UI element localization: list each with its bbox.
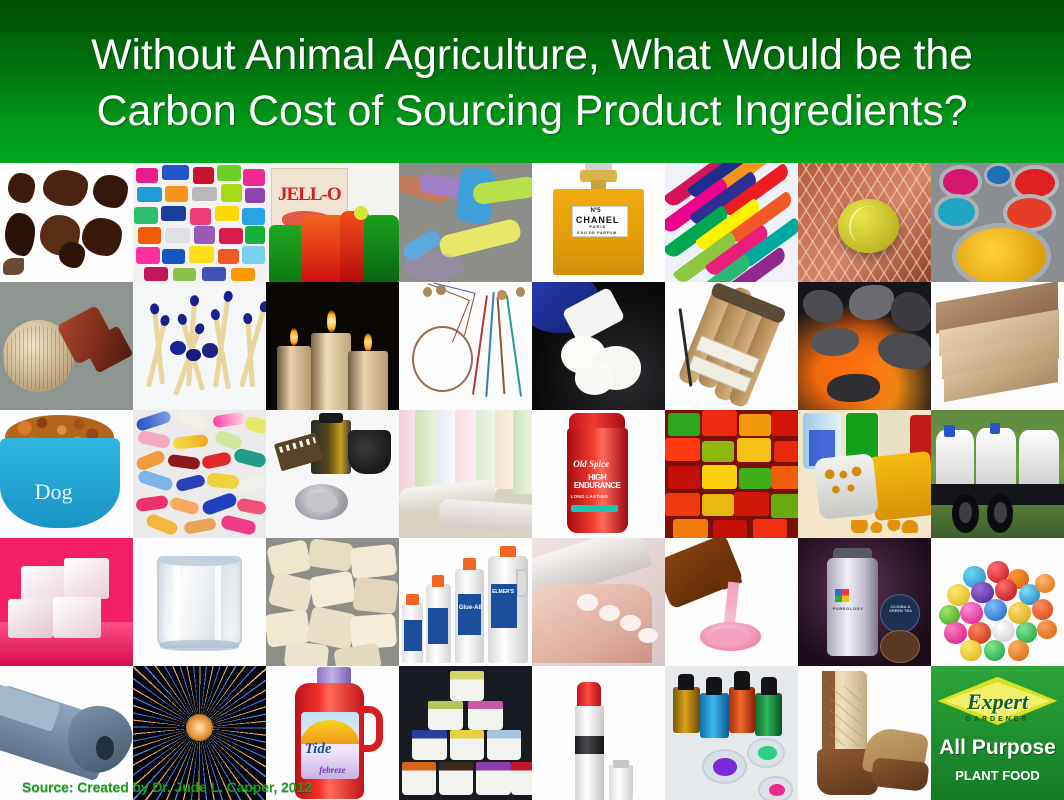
- grid-cell-plywood[interactable]: [931, 282, 1064, 410]
- grid-cell-gummy-candy[interactable]: [665, 410, 798, 538]
- product-image-grid: JELL-O: [0, 163, 1064, 800]
- plant-food-brand-sub3: PLANT FOOD: [931, 768, 1064, 783]
- grid-cell-nail-file[interactable]: [532, 538, 665, 666]
- deodorant-brand-sub2: LONG LASTING: [571, 494, 609, 499]
- grid-cell-paint-cans[interactable]: [931, 163, 1064, 282]
- grid-cell-pills[interactable]: [133, 410, 266, 538]
- grid-cell-spice-jars[interactable]: [798, 410, 931, 538]
- grid-cell-cowhide[interactable]: [0, 163, 133, 282]
- grid-cell-candles[interactable]: [266, 282, 399, 410]
- grid-cell-instrument-strings[interactable]: [399, 282, 532, 410]
- grid-cell-fertilizer-truck[interactable]: [931, 410, 1064, 538]
- grid-cell-wallpaper[interactable]: [399, 410, 532, 538]
- detergent-brand-sub: febreze: [319, 765, 346, 775]
- jello-brand-label: JELL-O: [278, 184, 341, 206]
- grid-cell-lipstick[interactable]: [532, 666, 665, 800]
- grid-cell-shaving-brush[interactable]: [0, 282, 133, 410]
- grid-cell-tallow[interactable]: [266, 538, 399, 666]
- grid-cell-gumballs[interactable]: [931, 538, 1064, 666]
- conditioner-brand-sub: JOJOBA & GREEN TEA: [883, 605, 918, 614]
- grid-cell-dog-food[interactable]: Dog: [0, 410, 133, 538]
- grid-cell-perfume[interactable]: N°5 CHANEL PARIS EAU DE PARFUM: [532, 163, 665, 282]
- grid-cell-photo-film[interactable]: [266, 410, 399, 538]
- plant-food-brand-sub: GARDENER: [931, 716, 1064, 723]
- plant-food-brand-sub2: All Purpose: [931, 736, 1064, 760]
- grid-cell-sidewalk-chalk[interactable]: [399, 163, 532, 282]
- grid-cell-tennis-ball[interactable]: [798, 163, 931, 282]
- source-note: Source: Created by Dr. Jude L. Capper, 2…: [22, 779, 312, 795]
- page-title-line-2: Carbon Cost of Sourcing Product Ingredie…: [17, 84, 1047, 139]
- conditioner-brand-label: PUREOLOGY: [833, 606, 864, 611]
- perfume-brand-type: EAU DE PARFUM: [577, 230, 617, 235]
- grid-cell-inks-dyes[interactable]: [665, 666, 798, 800]
- slide-header: Without Animal Agriculture, What Would b…: [0, 0, 1064, 163]
- slide: Without Animal Agriculture, What Would b…: [0, 0, 1064, 800]
- dog-bowl-label: Dog: [35, 479, 73, 505]
- perfume-brand-number: N°5: [591, 208, 601, 214]
- grid-cell-charcoal[interactable]: [798, 282, 931, 410]
- page-title: Without Animal Agriculture, What Would b…: [17, 24, 1047, 138]
- deodorant-brand-label: Old Spice: [573, 459, 609, 469]
- grid-cell-plastic-beads[interactable]: [133, 163, 266, 282]
- grid-cell-dynamite[interactable]: [665, 282, 798, 410]
- grid-cell-leather-boots[interactable]: [798, 666, 931, 800]
- grid-cell-conditioner[interactable]: PUREOLOGY JOJOBA & GREEN TEA: [798, 538, 931, 666]
- glue-brand-label: ELMER'S: [492, 589, 514, 595]
- grid-cell-crayons[interactable]: [665, 163, 798, 282]
- grid-cell-sugar-cubes[interactable]: [0, 538, 133, 666]
- grid-cell-jello[interactable]: JELL-O: [266, 163, 399, 282]
- perfume-brand-city: PARIS: [589, 224, 606, 229]
- grid-cell-glue[interactable]: Glue-All ELMER'S: [399, 538, 532, 666]
- deodorant-brand-sub: HIGH ENDURANCE: [569, 474, 625, 489]
- grid-cell-ceramic-mugs[interactable]: [399, 666, 532, 800]
- grid-cell-shampoo[interactable]: [532, 282, 665, 410]
- grid-cell-matches[interactable]: [133, 282, 266, 410]
- page-title-line-1: Without Animal Agriculture, What Would b…: [17, 28, 1047, 83]
- detergent-brand-label: Tide: [305, 741, 332, 758]
- grid-cell-plant-food[interactable]: Expert GARDENER All Purpose PLANT FOOD: [931, 666, 1064, 800]
- plant-food-brand-label: Expert: [931, 689, 1064, 715]
- grid-cell-glassware[interactable]: [133, 538, 266, 666]
- grid-cell-deodorant[interactable]: Old Spice HIGH ENDURANCE LONG LASTING: [532, 410, 665, 538]
- grid-cell-pink-medicine[interactable]: [665, 538, 798, 666]
- glue-brand-sub: Glue-All: [459, 605, 482, 611]
